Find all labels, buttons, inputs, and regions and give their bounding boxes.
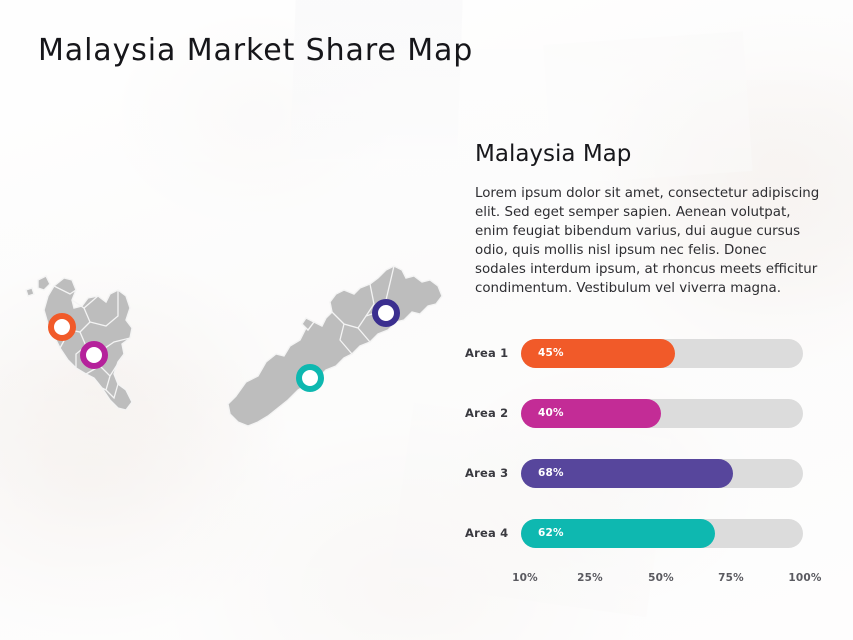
bar-fill[interactable]: 62%: [521, 519, 715, 548]
bar-category-label: Area 4: [465, 526, 521, 540]
bar-fill[interactable]: 45%: [521, 339, 675, 368]
market-share-bar-chart: Area 145%Area 240%Area 368%Area 462%: [465, 338, 830, 563]
bar-category-label: Area 3: [465, 466, 521, 480]
bar-chart-axis: 10%25%50%75%100%: [465, 572, 830, 590]
axis-tick-label: 75%: [718, 572, 744, 584]
axis-tick-label: 50%: [648, 572, 674, 584]
bar-row: Area 240%: [465, 398, 830, 428]
bar-fill[interactable]: 40%: [521, 399, 661, 428]
bar-row: Area 368%: [465, 458, 830, 488]
section-heading: Malaysia Map: [475, 141, 631, 167]
marker-area-4[interactable]: [296, 364, 324, 392]
bar-track: 40%: [521, 399, 803, 428]
axis-tick-label: 25%: [577, 572, 603, 584]
bar-value-label: 68%: [538, 467, 564, 479]
bar-value-label: 45%: [538, 347, 564, 359]
bar-value-label: 62%: [538, 527, 564, 539]
axis-tick-label: 10%: [512, 572, 538, 584]
bar-track: 62%: [521, 519, 803, 548]
bar-fill[interactable]: 68%: [521, 459, 733, 488]
axis-tick-label: 100%: [788, 572, 821, 584]
marker-area-2[interactable]: [80, 341, 108, 369]
bar-track: 68%: [521, 459, 803, 488]
marker-area-1[interactable]: [48, 313, 76, 341]
bar-value-label: 40%: [538, 407, 564, 419]
bar-track: 45%: [521, 339, 803, 368]
bar-category-label: Area 1: [465, 346, 521, 360]
slide-canvas: Malaysia Market Share Map: [0, 0, 853, 640]
background-laptop-shape: [290, 0, 463, 159]
bar-category-label: Area 2: [465, 406, 521, 420]
marker-area-3[interactable]: [372, 299, 400, 327]
east-malaysia: [228, 266, 442, 426]
bar-row: Area 462%: [465, 518, 830, 548]
page-title: Malaysia Market Share Map: [38, 33, 473, 68]
bar-row: Area 145%: [465, 338, 830, 368]
section-paragraph: Lorem ipsum dolor sit amet, consectetur …: [475, 184, 820, 298]
